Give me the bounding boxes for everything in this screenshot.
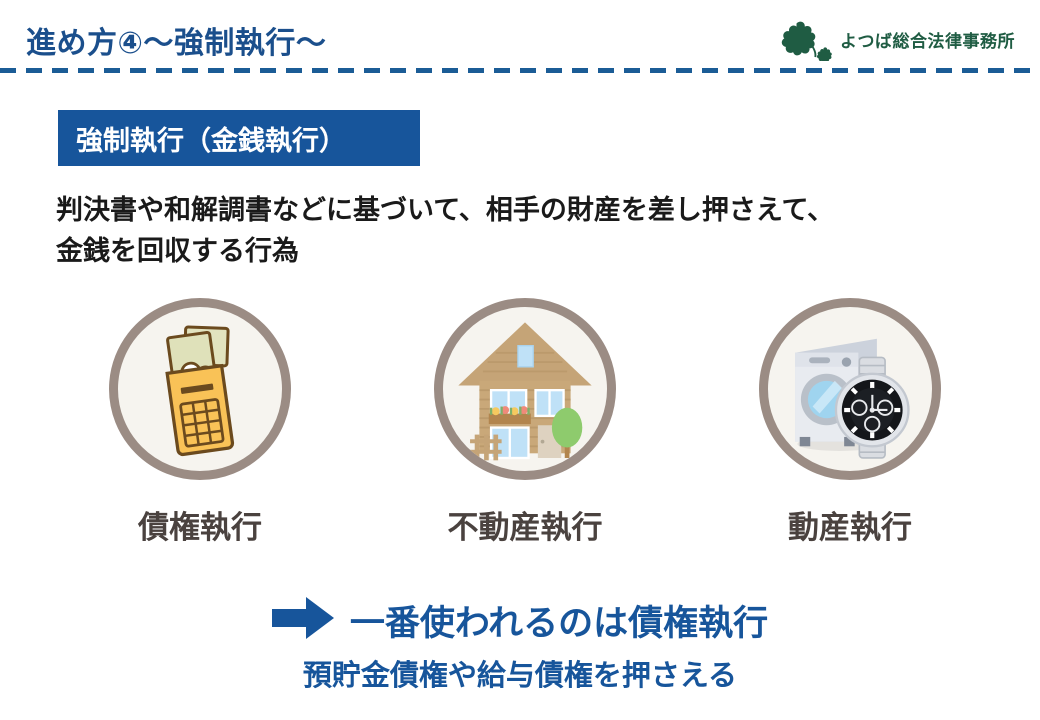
body-line-2: 金銭を回収する行為 (56, 231, 1016, 272)
header-divider (0, 68, 1040, 73)
arrow-right-icon (272, 597, 334, 644)
four-leaf-clover-icon (778, 17, 834, 61)
conclusion-block: 一番使われるのは債権執行 預貯金債権や給与債権を押さえる (0, 595, 1040, 694)
execution-type-item: 不動産執行 (395, 298, 655, 548)
section-heading-label: 強制執行（金銭執行） (76, 119, 346, 158)
execution-type-label: 動産執行 (788, 502, 912, 547)
slide: 進め方④〜強制執行〜 よつば総合法律事務所 強制執行（金銭執行） 判決書や和解調… (0, 0, 1040, 720)
execution-type-label: 不動産執行 (448, 502, 603, 547)
conclusion-main-text: 一番使われるのは債権執行 (350, 595, 768, 646)
conclusion-main-row: 一番使われるのは債権執行 (0, 595, 1040, 646)
conclusion-sub-text: 預貯金債権や給与債権を押さえる (0, 652, 1040, 694)
section-heading-box: 強制執行（金銭執行） (58, 110, 420, 166)
execution-types-row: 債権執行 (70, 298, 980, 548)
wallet-with-money-icon (109, 298, 291, 480)
firm-logo: よつば総合法律事務所 (778, 16, 1030, 62)
house-icon (434, 298, 616, 480)
body-line-1: 判決書や和解調書などに基づいて、相手の財産を差し押さえて、 (56, 190, 1016, 231)
firm-name: よつば総合法律事務所 (840, 27, 1015, 52)
page-title: 進め方④〜強制執行〜 (26, 18, 326, 62)
execution-type-label: 債権執行 (138, 502, 262, 547)
section-body-text: 判決書や和解調書などに基づいて、相手の財産を差し押さえて、 金銭を回収する行為 (56, 190, 1016, 272)
washing-machine-and-watch-icon (759, 298, 941, 480)
execution-type-item: 動産執行 (720, 298, 980, 548)
execution-type-item: 債権執行 (70, 298, 330, 548)
